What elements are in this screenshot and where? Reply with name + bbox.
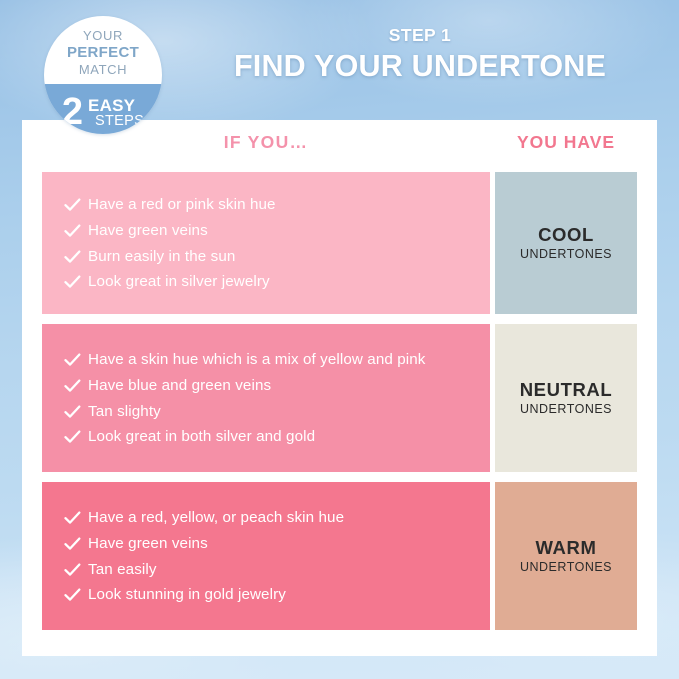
list-item: Look great in both silver and gold — [64, 428, 474, 447]
list-item: Have blue and green veins — [64, 377, 474, 396]
content-card: IF YOU… YOU HAVE Have a red or pink skin… — [22, 120, 657, 656]
badge-top-text: YOUR PERFECT MATCH — [44, 28, 162, 78]
list-item-label: Have green veins — [88, 222, 208, 241]
list-item: Have a red, yellow, or peach skin hue — [64, 509, 474, 528]
list-item: Have a skin hue which is a mix of yellow… — [64, 351, 474, 370]
list-item: Have green veins — [64, 535, 474, 554]
list-item-label: Look stunning in gold jewelry — [88, 586, 286, 605]
column-headings: IF YOU… YOU HAVE — [22, 132, 657, 164]
badge-label-steps: STEPS — [88, 114, 144, 129]
checkmark-icon — [64, 351, 88, 367]
table-row: Have a red, yellow, or peach skin hue Ha… — [42, 482, 637, 630]
swatch-title: NEUTRAL — [520, 379, 613, 400]
page-title: FIND YOUR UNDERTONE — [180, 49, 660, 83]
list-item-label: Have a red or pink skin hue — [88, 196, 276, 215]
perfect-match-badge: YOUR PERFECT MATCH 2 EASY STEPS — [44, 16, 162, 134]
criteria-panel-neutral: Have a skin hue which is a mix of yellow… — [42, 324, 490, 472]
infographic-poster: YOUR PERFECT MATCH 2 EASY STEPS STEP 1 F… — [0, 0, 679, 679]
swatch-subtitle: UNDERTONES — [520, 401, 612, 417]
criteria-panel-warm: Have a red, yellow, or peach skin hue Ha… — [42, 482, 490, 630]
checkmark-icon — [64, 377, 88, 393]
result-swatch-cool: COOL UNDERTONES — [495, 172, 637, 314]
list-item-label: Tan easily — [88, 561, 157, 580]
swatch-subtitle: UNDERTONES — [520, 246, 612, 262]
list-item-label: Tan slighty — [88, 403, 161, 422]
list-item-label: Have a red, yellow, or peach skin hue — [88, 509, 344, 528]
badge-line-your: YOUR — [44, 28, 162, 44]
list-item-label: Look great in silver jewelry — [88, 273, 270, 292]
checkmark-icon — [64, 248, 88, 264]
checkmark-icon — [64, 428, 88, 444]
list-item: Have a red or pink skin hue — [64, 196, 474, 215]
checkmark-icon — [64, 509, 88, 525]
badge-steps-group: 2 EASY STEPS — [44, 94, 162, 132]
table-row: Have a skin hue which is a mix of yellow… — [42, 324, 637, 472]
checkmark-icon — [64, 403, 88, 419]
checkmark-icon — [64, 586, 88, 602]
result-swatch-warm: WARM UNDERTONES — [495, 482, 637, 630]
swatch-subtitle: UNDERTONES — [520, 559, 612, 575]
list-item: Burn easily in the sun — [64, 248, 474, 267]
list-item: Have green veins — [64, 222, 474, 241]
badge-label-easy: EASY — [88, 97, 144, 114]
checkmark-icon — [64, 561, 88, 577]
list-item: Tan slighty — [64, 403, 474, 422]
badge-steps-text: EASY STEPS — [88, 97, 144, 129]
column-heading-if-you: IF YOU… — [42, 132, 490, 153]
swatch-title: WARM — [536, 537, 597, 558]
list-item-label: Have green veins — [88, 535, 208, 554]
badge-line-perfect: PERFECT — [44, 44, 162, 62]
poster-header: STEP 1 FIND YOUR UNDERTONE — [180, 26, 660, 83]
list-item-label: Look great in both silver and gold — [88, 428, 315, 447]
swatch-title: COOL — [538, 224, 594, 245]
list-item-label: Have blue and green veins — [88, 377, 271, 396]
list-item-label: Have a skin hue which is a mix of yellow… — [88, 351, 426, 370]
list-item: Tan easily — [64, 561, 474, 580]
list-item: Look stunning in gold jewelry — [64, 586, 474, 605]
checkmark-icon — [64, 222, 88, 238]
list-item: Look great in silver jewelry — [64, 273, 474, 292]
checkmark-icon — [64, 273, 88, 289]
list-item-label: Burn easily in the sun — [88, 248, 235, 267]
result-swatch-neutral: NEUTRAL UNDERTONES — [495, 324, 637, 472]
badge-step-number: 2 — [62, 94, 83, 130]
criteria-panel-cool: Have a red or pink skin hue Have green v… — [42, 172, 490, 314]
checkmark-icon — [64, 535, 88, 551]
undertone-rows: Have a red or pink skin hue Have green v… — [42, 172, 637, 640]
step-label: STEP 1 — [180, 26, 660, 45]
column-heading-you-have: YOU HAVE — [495, 132, 637, 153]
badge-line-match: MATCH — [44, 62, 162, 78]
checkmark-icon — [64, 196, 88, 212]
table-row: Have a red or pink skin hue Have green v… — [42, 172, 637, 314]
